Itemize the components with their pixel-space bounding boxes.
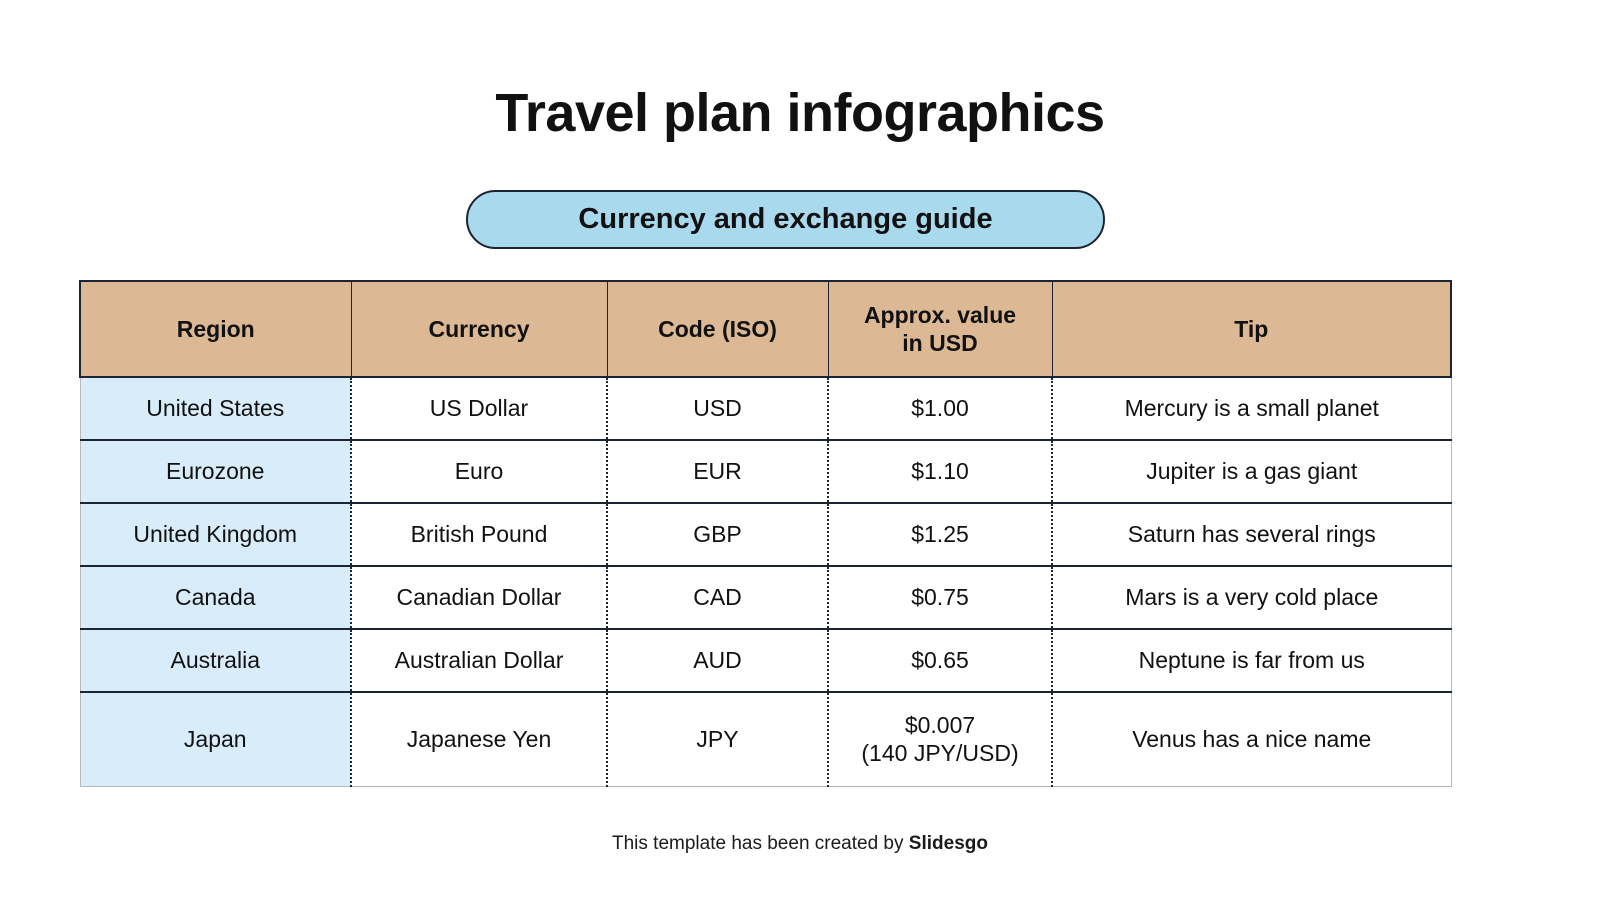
cell-region: Australia: [80, 629, 351, 692]
cell-region: Eurozone: [80, 440, 351, 503]
cell-region: Japan: [80, 692, 351, 786]
cell-currency: Canadian Dollar: [351, 566, 607, 629]
cell-currency: British Pound: [351, 503, 607, 566]
cell-tip: Mercury is a small planet: [1052, 377, 1451, 440]
footer-credit: This template has been created by Slides…: [0, 833, 1600, 855]
table-header-row: Region Currency Code (ISO) Approx. value…: [80, 281, 1451, 377]
cell-code: JPY: [607, 692, 828, 786]
cell-value-usd: $0.007 (140 JPY/USD): [828, 692, 1052, 786]
cell-tip: Venus has a nice name: [1052, 692, 1451, 786]
cell-code: AUD: [607, 629, 828, 692]
column-header-approx-value-usd: Approx. value in USD: [828, 281, 1052, 377]
table-row: Australia Australian Dollar AUD $0.65 Ne…: [80, 629, 1451, 692]
column-header-code: Code (ISO): [607, 281, 828, 377]
table-row: Japan Japanese Yen JPY $0.007 (140 JPY/U…: [80, 692, 1451, 786]
cell-currency: Euro: [351, 440, 607, 503]
cell-tip: Neptune is far from us: [1052, 629, 1451, 692]
cell-value-usd: $0.75: [828, 566, 1052, 629]
cell-region: United Kingdom: [80, 503, 351, 566]
cell-code: EUR: [607, 440, 828, 503]
cell-value-usd: $0.65: [828, 629, 1052, 692]
cell-region: Canada: [80, 566, 351, 629]
cell-value-usd: $1.25: [828, 503, 1052, 566]
table-header: Region Currency Code (ISO) Approx. value…: [80, 281, 1451, 377]
column-header-tip: Tip: [1052, 281, 1451, 377]
currency-table: Region Currency Code (ISO) Approx. value…: [79, 280, 1452, 787]
currency-table-container: Region Currency Code (ISO) Approx. value…: [79, 280, 1450, 787]
cell-tip: Saturn has several rings: [1052, 503, 1451, 566]
cell-code: GBP: [607, 503, 828, 566]
table-body: United States US Dollar USD $1.00 Mercur…: [80, 377, 1451, 786]
cell-value-usd: $1.10: [828, 440, 1052, 503]
cell-tip: Mars is a very cold place: [1052, 566, 1451, 629]
cell-currency: US Dollar: [351, 377, 607, 440]
cell-value-usd: $1.00: [828, 377, 1052, 440]
table-row: United Kingdom British Pound GBP $1.25 S…: [80, 503, 1451, 566]
table-row: Eurozone Euro EUR $1.10 Jupiter is a gas…: [80, 440, 1451, 503]
subtitle-pill-label: Currency and exchange guide: [578, 203, 992, 236]
subtitle-pill: Currency and exchange guide: [466, 190, 1105, 249]
table-row: United States US Dollar USD $1.00 Mercur…: [80, 377, 1451, 440]
cell-code: CAD: [607, 566, 828, 629]
cell-currency: Australian Dollar: [351, 629, 607, 692]
page-title: Travel plan infographics: [0, 84, 1600, 143]
slide-canvas: Travel plan infographics Currency and ex…: [0, 0, 1600, 900]
footer-brand-name: Slidesgo: [909, 833, 988, 854]
cell-code: USD: [607, 377, 828, 440]
table-row: Canada Canadian Dollar CAD $0.75 Mars is…: [80, 566, 1451, 629]
footer-credit-text: This template has been created by: [612, 833, 909, 854]
cell-region: United States: [80, 377, 351, 440]
cell-tip: Jupiter is a gas giant: [1052, 440, 1451, 503]
column-header-region: Region: [80, 281, 351, 377]
column-header-currency: Currency: [351, 281, 607, 377]
cell-currency: Japanese Yen: [351, 692, 607, 786]
